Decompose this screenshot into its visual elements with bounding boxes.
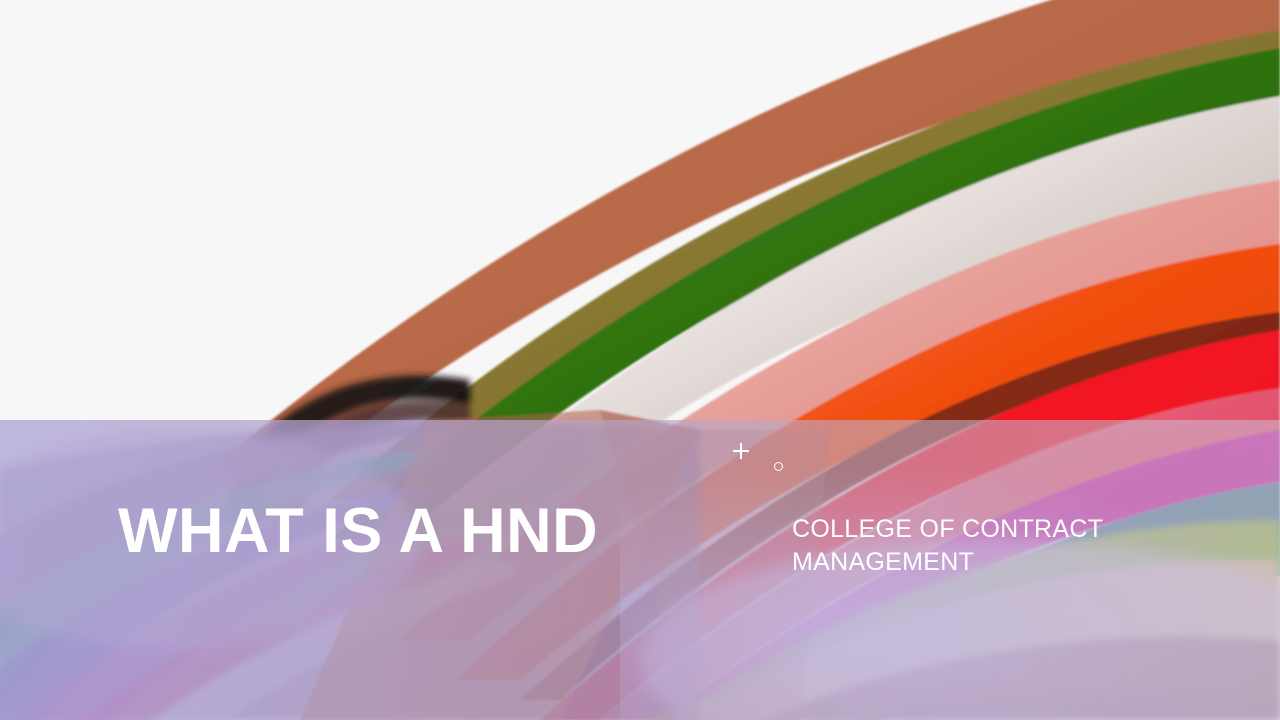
artwork-svg	[0, 0, 1280, 720]
plus-icon	[733, 443, 749, 459]
circle-icon	[774, 462, 783, 471]
organization-name: COLLEGE OF CONTRACT MANAGEMENT	[792, 513, 1103, 579]
presentation-slide: WHAT IS A HND COLLEGE OF CONTRACT MANAGE…	[0, 0, 1280, 720]
background-artwork	[0, 0, 1280, 720]
page-title: WHAT IS A HND	[118, 500, 598, 563]
